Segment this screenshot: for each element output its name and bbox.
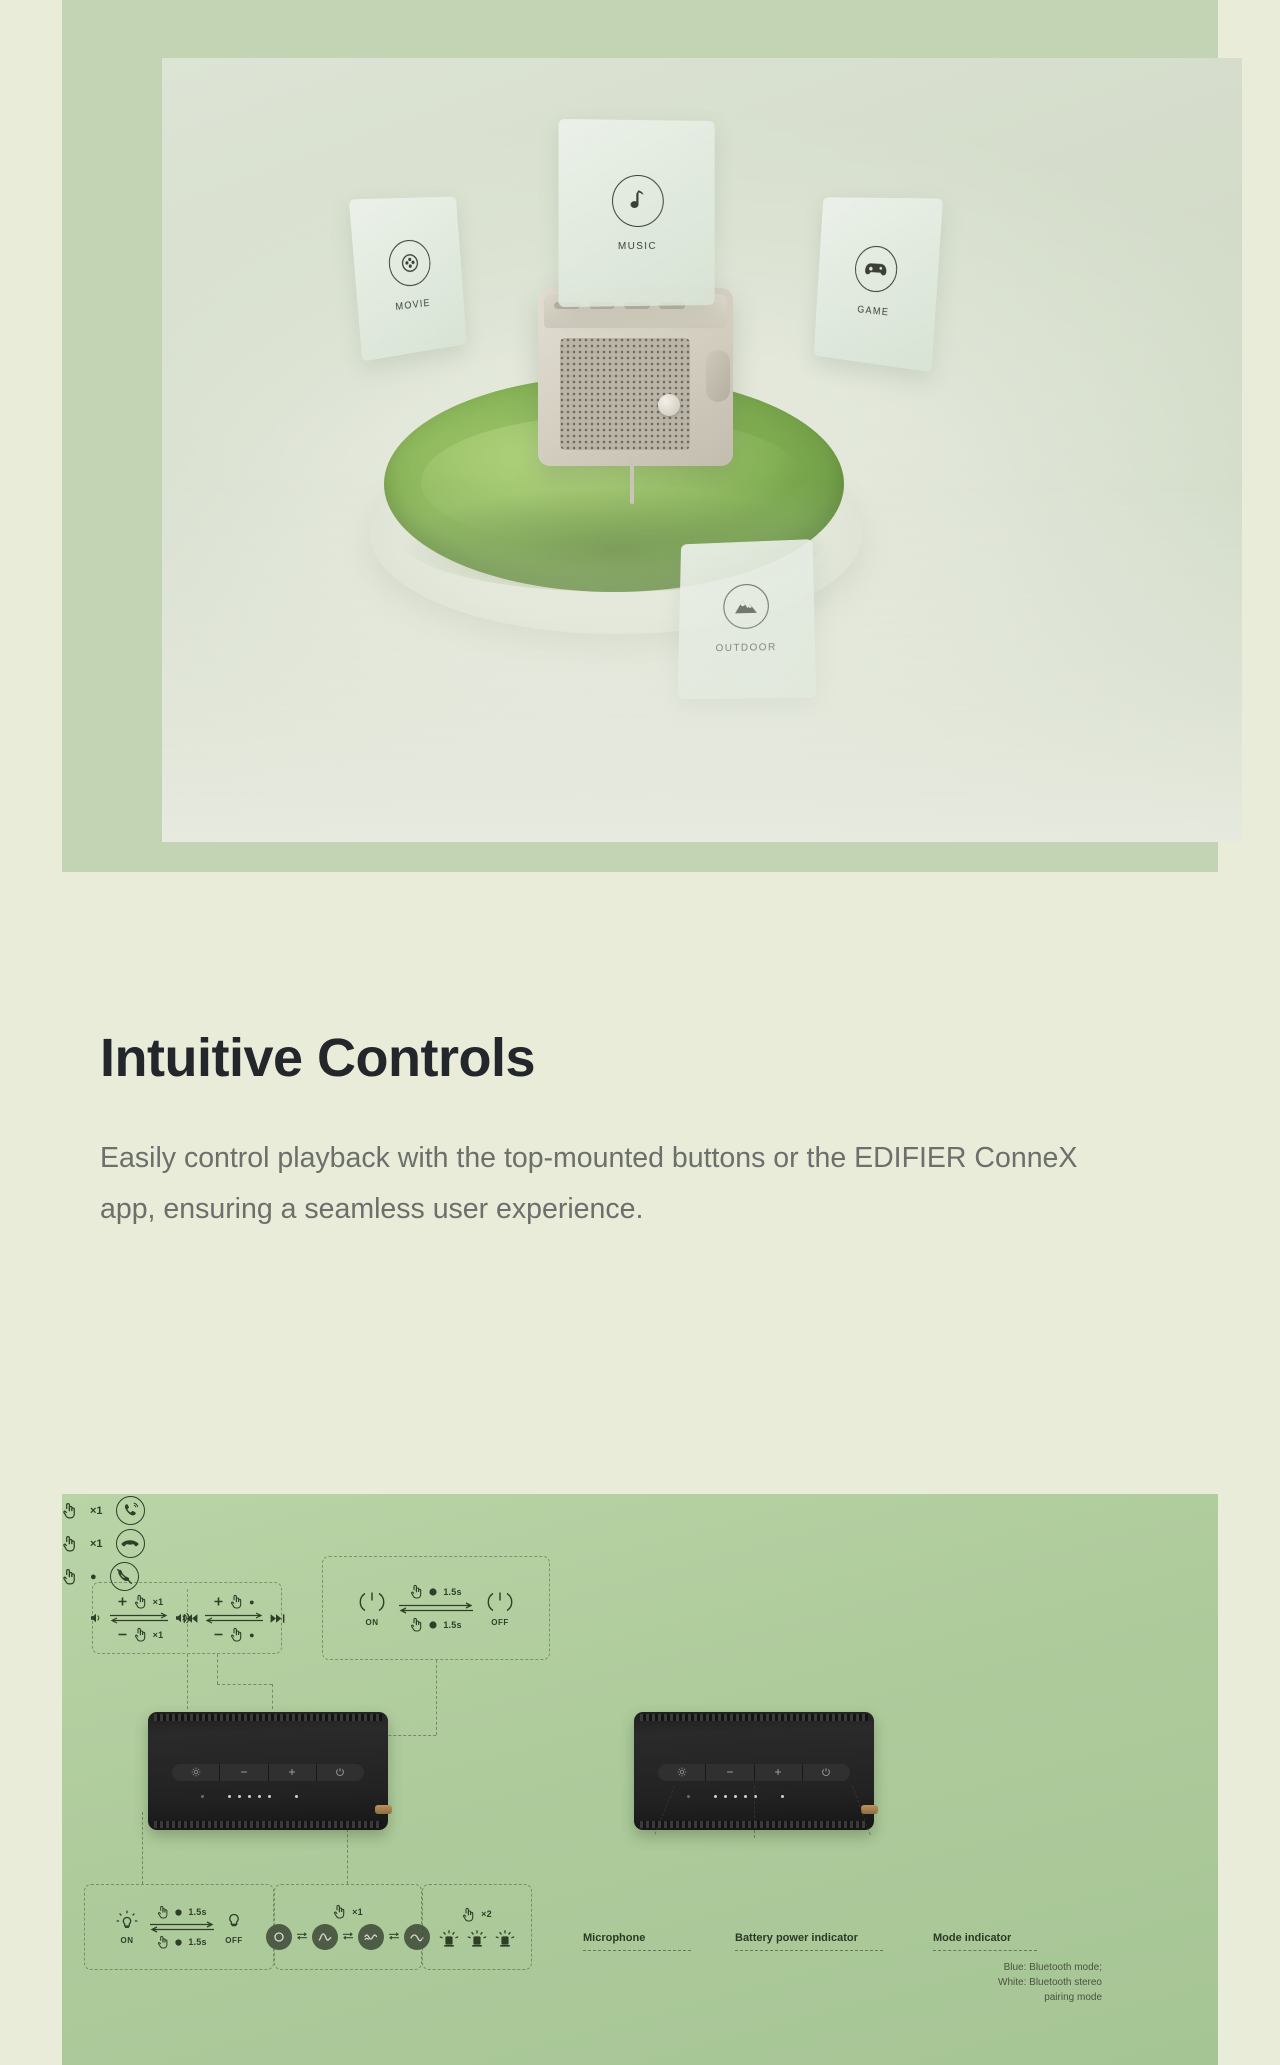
press-duration: 1.5s [188, 1907, 206, 1917]
cycle-arrow-icon [342, 1928, 354, 1946]
long-press-hand-icon [157, 1905, 169, 1919]
press-duration: 1.5s [443, 1587, 461, 1597]
volume-low-icon [90, 1612, 103, 1624]
battery-led [258, 1795, 261, 1798]
tap-hand-icon [333, 1904, 346, 1919]
battery-led-row [201, 1795, 298, 1798]
power-off-state: OFF [485, 1589, 515, 1627]
press-count: ×1 [90, 1505, 103, 1517]
microphone-led [687, 1795, 690, 1798]
long-press-hand-icon [230, 1594, 243, 1609]
connector-line [142, 1812, 143, 1884]
lamp-off-icon [224, 1909, 244, 1933]
power-on-icon [357, 1589, 387, 1615]
long-press-hand-icon [410, 1617, 423, 1632]
pairing-beacon-icon [438, 1928, 460, 1948]
scene-card-game: GAME [814, 197, 943, 372]
battery-led [228, 1795, 231, 1798]
callout-line [754, 1786, 755, 1838]
connector-line [272, 1684, 273, 1709]
battery-led [734, 1795, 737, 1798]
press-count: ● [249, 1597, 255, 1607]
volume-track-panel: ×1 [92, 1582, 282, 1654]
press-count: ● [90, 1571, 97, 1583]
hero-product-photo: MOVIE MUSIC GAME [162, 58, 1242, 842]
power-on-label: ON [366, 1618, 379, 1627]
call-answer-row: ×1 [62, 1494, 212, 1527]
tap-hand-icon [134, 1594, 147, 1609]
battery-led [714, 1795, 717, 1798]
plus-icon [213, 1596, 224, 1607]
light-off-label: OFF [225, 1936, 243, 1945]
tap-hand-icon [62, 1502, 77, 1519]
plus-icon [117, 1596, 128, 1607]
light-off-state: OFF [224, 1909, 244, 1945]
battery-led-row [687, 1795, 784, 1798]
speaker-port [861, 1805, 878, 1814]
connector-line [436, 1660, 437, 1735]
press-count: ×1 [153, 1630, 164, 1640]
press-duration: 1.5s [188, 1937, 206, 1947]
light-button[interactable] [658, 1764, 706, 1781]
clock-icon [175, 1909, 182, 1916]
light-on-label: ON [121, 1936, 134, 1945]
scene-card-outdoor: OUTDOOR [678, 539, 817, 699]
connector-line [217, 1684, 272, 1685]
eq-mode-1-icon [266, 1924, 292, 1950]
power-off-icon [485, 1589, 515, 1615]
minus-icon [117, 1629, 128, 1640]
cycle-arrow-icon [388, 1928, 400, 1946]
clock-icon [429, 1621, 437, 1629]
eq-mode-panel: ×1 [274, 1884, 422, 1970]
speaker-knob [658, 394, 680, 416]
plus-button[interactable] [755, 1764, 803, 1781]
hero-speaker [538, 288, 733, 466]
tap-hand-icon [462, 1907, 475, 1922]
battery-led [268, 1795, 271, 1798]
press-count: ×2 [481, 1909, 492, 1919]
power-button[interactable] [803, 1764, 850, 1781]
long-press-hand-icon [157, 1935, 169, 1949]
minus-button[interactable] [220, 1764, 268, 1781]
press-count: ×1 [352, 1907, 363, 1917]
plus-button[interactable] [269, 1764, 317, 1781]
answer-call-icon [116, 1496, 145, 1525]
callout-battery-indicator: Battery power indicator [735, 1932, 858, 1944]
previous-track-icon [183, 1613, 198, 1624]
scene-card-label: MUSIC [618, 240, 657, 251]
long-press-hand-icon [230, 1627, 243, 1642]
power-panel: ON 1.5s [322, 1556, 550, 1660]
scene-card-label: MOVIE [395, 298, 431, 313]
tap-hand-icon [134, 1627, 147, 1642]
mode-led [781, 1795, 784, 1798]
clock-icon [429, 1588, 437, 1596]
pairing-panel: ×2 [422, 1884, 532, 1970]
hero-band: MOVIE MUSIC GAME [62, 0, 1218, 872]
clock-icon [175, 1939, 182, 1946]
call-end-row: ×1 [62, 1527, 212, 1560]
connector-line [217, 1654, 218, 1684]
long-press-hand-icon [62, 1568, 77, 1585]
battery-led [248, 1795, 251, 1798]
bidirectional-arrows [148, 1920, 216, 1934]
battery-led [724, 1795, 727, 1798]
scene-card-music: MUSIC [559, 119, 715, 307]
minus-button[interactable] [706, 1764, 754, 1781]
speaker-port [375, 1805, 392, 1814]
light-button[interactable] [172, 1764, 220, 1781]
lamp-on-icon [114, 1909, 140, 1933]
power-off-label: OFF [491, 1618, 509, 1627]
controls-diagram: ×1 [62, 1494, 1218, 2065]
eq-mode-2-icon [312, 1924, 338, 1950]
pairing-beacon-icon [466, 1928, 488, 1948]
microphone-led [201, 1795, 204, 1798]
speaker-button-bar [172, 1764, 364, 1781]
next-track-icon [270, 1613, 285, 1624]
battery-led [238, 1795, 241, 1798]
scene-card-label: OUTDOOR [716, 642, 777, 654]
light-panel: ON 1.5s [84, 1884, 274, 1970]
light-on-state: ON [114, 1909, 140, 1945]
film-reel-icon [387, 239, 432, 288]
section-description: Easily control playback with the top-mou… [100, 1133, 1110, 1234]
press-count: ×1 [153, 1597, 164, 1607]
callout-mode-indicator: Mode indicator [933, 1932, 1011, 1944]
scene-card-label: GAME [857, 304, 890, 318]
press-count: ×1 [90, 1538, 103, 1550]
pairing-beacon-row [438, 1928, 516, 1948]
cycle-arrow-icon [296, 1928, 308, 1946]
speaker-button-bar [658, 1764, 850, 1781]
tap-hand-icon [62, 1535, 77, 1552]
power-on-state: ON [357, 1589, 387, 1627]
battery-led [744, 1795, 747, 1798]
speaker-strap [630, 458, 634, 504]
minus-icon [213, 1629, 224, 1640]
connector-line [187, 1654, 188, 1709]
bidirectional-arrows [203, 1611, 265, 1625]
music-note-icon [612, 174, 664, 226]
mode-led [295, 1795, 298, 1798]
scene-card-movie: MOVIE [349, 196, 467, 361]
power-button[interactable] [317, 1764, 364, 1781]
pairing-beacon-icon [494, 1928, 516, 1948]
long-press-hand-icon [410, 1584, 423, 1599]
text-block: Intuitive Controls Easily control playba… [100, 1030, 1150, 1234]
eq-mode-chain [266, 1924, 430, 1950]
speaker-front-left [148, 1712, 388, 1830]
mountain-icon [723, 583, 769, 629]
gamepad-icon [854, 245, 899, 294]
speaker-side-panel [706, 350, 730, 402]
page-title: Intuitive Controls [100, 1030, 1150, 1087]
eq-mode-3-icon [358, 1924, 384, 1950]
press-count: ● [249, 1630, 255, 1640]
bidirectional-arrows [108, 1611, 170, 1625]
callout-microphone: Microphone [583, 1932, 645, 1944]
mode-indicator-legend: Blue: Bluetooth mode; White: Bluetooth s… [922, 1960, 1102, 2005]
connector-line [347, 1824, 348, 1884]
bidirectional-arrows [397, 1601, 475, 1615]
press-duration: 1.5s [443, 1620, 461, 1630]
end-call-icon [116, 1529, 145, 1558]
